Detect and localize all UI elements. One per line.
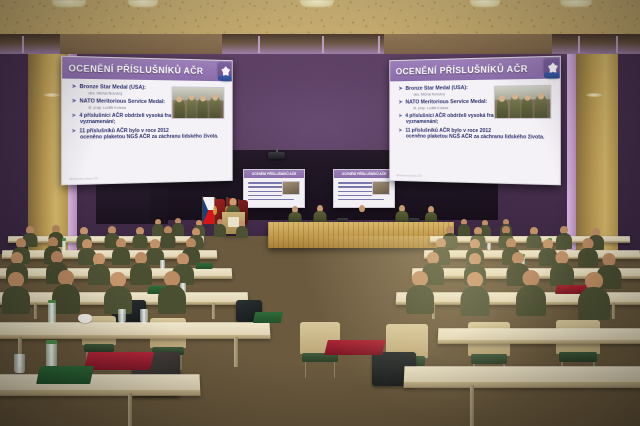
slide-title: OCENĚNÍ PŘÍSLUŠNÍKŮ AČR xyxy=(396,63,528,76)
soffit-gap xyxy=(0,34,60,54)
attendee xyxy=(236,221,248,238)
czech-armed-forces-crest xyxy=(544,59,561,79)
slide-footer-text: Ministerstvo obrany ČR xyxy=(397,174,422,178)
rear-screen-left: OCENĚNÍ PŘÍSLUŠNÍKŮ AČR xyxy=(243,169,305,208)
drinking-glass xyxy=(160,260,165,269)
attendee xyxy=(112,238,130,265)
bullet-text: vyznamenání; xyxy=(406,119,438,125)
ceiling-rod xyxy=(322,36,324,53)
bullet-text: oceněno plaketou NGŠ AČR za záchranu lid… xyxy=(80,134,218,141)
attendee xyxy=(458,219,470,237)
drinking-glass xyxy=(118,309,126,323)
table-leg xyxy=(234,337,238,367)
bullet-text: Bronze Star Medal (USA): xyxy=(405,85,467,92)
table-leg xyxy=(128,393,132,426)
slide-bullet-cont: vyznamenání; xyxy=(80,119,233,125)
recessed-ceiling-light xyxy=(300,0,334,7)
attendee xyxy=(132,227,147,248)
left-wall-return xyxy=(0,54,28,254)
floor-reflection xyxy=(294,236,594,426)
name-card xyxy=(253,312,283,323)
attendee xyxy=(52,270,80,314)
attendee xyxy=(130,252,152,285)
wall-downlight xyxy=(44,93,60,97)
attendee xyxy=(104,272,132,314)
czech-armed-forces-crest xyxy=(218,63,233,82)
soffit-gap xyxy=(222,34,384,54)
audience-table xyxy=(0,374,201,396)
medal-ceremony-photo xyxy=(494,85,552,119)
slide-header: OCENĚNÍ PŘÍSLUŠNÍKŮ AČR xyxy=(62,57,233,82)
table-leg xyxy=(34,303,37,319)
rear-screen-right: OCENĚNÍ PŘÍSLUŠNÍKŮ AČR xyxy=(333,169,395,208)
water-bottle xyxy=(48,302,56,323)
conference-hall-photo: OCENĚNÍ PŘÍSLUŠNÍKŮ AČR OCENĚNÍ PŘÍSLUŠN… xyxy=(0,0,640,426)
ceiling-projector xyxy=(268,152,285,159)
bullet-text: vyznamenání; xyxy=(80,119,115,125)
bullet-marker-icon: ➤ xyxy=(399,113,403,119)
bullet-marker-icon: ➤ xyxy=(72,84,77,90)
recessed-ceiling-light xyxy=(128,0,158,7)
bullet-marker-icon: ➤ xyxy=(72,98,77,104)
red-folder xyxy=(84,352,154,370)
name-card xyxy=(195,263,213,269)
rear-screen-left-header: OCENĚNÍ PŘÍSLUŠNÍKŮ AČR xyxy=(244,170,304,178)
coffee-cup xyxy=(78,314,92,323)
audience-table xyxy=(0,322,271,339)
bullet-text: NATO Meritorious Service Medal: xyxy=(80,98,166,105)
slide-footer-text: Ministerstvo obrany ČR xyxy=(70,177,98,181)
attendee xyxy=(214,219,226,237)
drinking-glass xyxy=(14,354,25,373)
attendee xyxy=(2,272,30,314)
table-leg xyxy=(212,303,215,319)
stage-backdrop xyxy=(96,178,168,224)
left-projection-screen: OCENĚNÍ PŘÍSLUŠNÍKŮ AČR ➤ Bronze Star Me… xyxy=(61,56,233,186)
recessed-ceiling-light xyxy=(470,0,500,7)
slide-bullet-cont: oceněno plaketou NGŠ AČR za záchranu lid… xyxy=(80,133,233,140)
recessed-ceiling-light xyxy=(52,0,86,7)
wall-downlight xyxy=(586,93,602,97)
slide-title: OCENĚNÍ PŘÍSLUŠNÍKŮ AČR xyxy=(69,63,204,76)
drinking-glass xyxy=(140,309,148,323)
attendee xyxy=(158,271,186,314)
medal-ceremony-photo xyxy=(171,86,224,119)
ceiling-rod xyxy=(378,36,380,53)
slide-header: OCENĚNÍ PŘÍSLUŠNÍKŮ AČR xyxy=(390,56,561,81)
right-wall-return xyxy=(618,54,640,254)
bullet-marker-icon: ➤ xyxy=(399,100,403,106)
bullet-marker-icon: ➤ xyxy=(72,113,77,119)
table-leg xyxy=(612,303,615,319)
water-bottle xyxy=(62,240,66,251)
bullet-marker-icon: ➤ xyxy=(399,128,403,134)
slide-bullet-cont: vyznamenání; xyxy=(406,119,561,125)
rear-screen-right-header: OCENĚNÍ PŘÍSLUŠNÍKŮ AČR xyxy=(334,170,394,178)
bullet-marker-icon: ➤ xyxy=(72,128,77,134)
rear-screen-right-photo xyxy=(372,181,390,195)
bullet-text: NATO Meritorious Service Medal: xyxy=(405,99,487,106)
bullet-marker-icon: ➤ xyxy=(399,86,403,92)
name-card xyxy=(36,366,94,384)
bullet-text: oceněno plaketou NGŠ AČR za záchranu lid… xyxy=(406,134,545,141)
ceiling-rod xyxy=(22,36,24,53)
slide-bullet-cont: oceněno plaketou NGŠ AČR za záchranu lid… xyxy=(406,134,561,141)
ceiling-rod xyxy=(258,36,260,53)
right-column xyxy=(576,54,618,254)
ceiling-rod xyxy=(578,36,580,53)
recessed-ceiling-light xyxy=(560,0,592,7)
bullet-text: Bronze Star Medal (USA): xyxy=(80,84,146,91)
right-projection-screen: OCENĚNÍ PŘÍSLUŠNÍKŮ AČR ➤ Bronze Star Me… xyxy=(389,56,561,186)
ceiling-rod xyxy=(616,36,618,53)
right-column-edge xyxy=(567,54,576,254)
rear-screen-left-photo xyxy=(282,181,300,195)
soffit-gap xyxy=(552,34,640,54)
